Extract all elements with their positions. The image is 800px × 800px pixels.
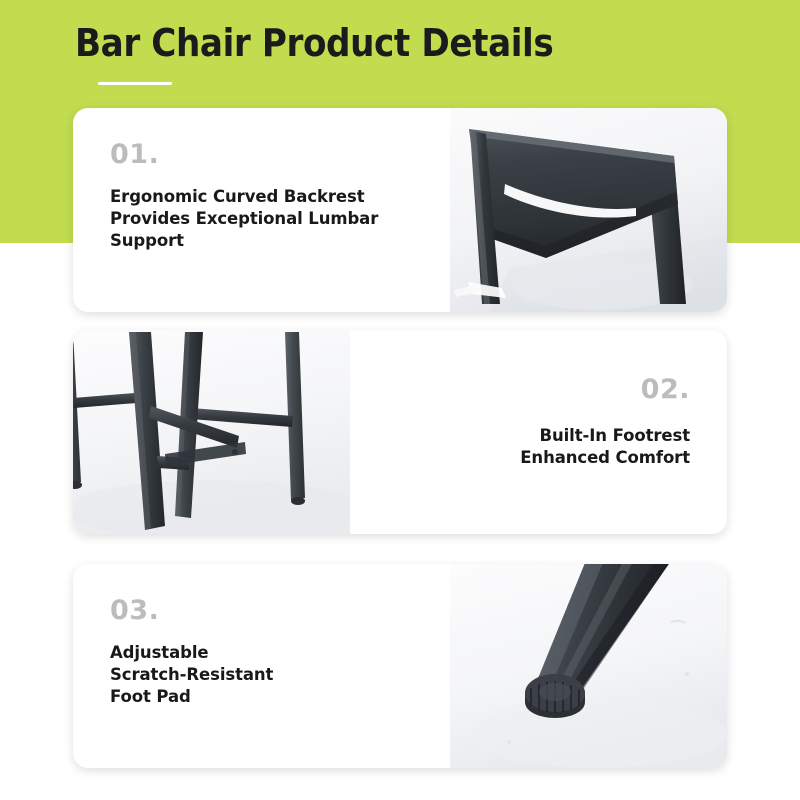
feature-card-1-title-line-2: Provides Exceptional Lumbar (110, 208, 450, 230)
chair-foot-pad-photo (450, 564, 727, 768)
feature-card-3-title-line-3: Foot Pad (110, 686, 450, 708)
chair-footrest-legs-photo (73, 330, 350, 534)
feature-card-1-text: 01. Ergonomic Curved Backrest Provides E… (73, 108, 450, 312)
feature-card-3-title-line-1: Adjustable (110, 642, 450, 664)
feature-card-3-text: 03. Adjustable Scratch-Resistant Foot Pa… (73, 564, 450, 768)
feature-card-2-text: 02. Built-In Footrest Enhanced Comfort (350, 330, 727, 534)
feature-card-3-number: 03. (110, 597, 450, 624)
chair-backrest-photo (450, 108, 727, 312)
feature-card-3-title-line-2: Scratch-Resistant (110, 664, 450, 686)
feature-card-3-title: Adjustable Scratch-Resistant Foot Pad (110, 642, 450, 707)
feature-card-1-title-line-1: Ergonomic Curved Backrest (110, 186, 450, 208)
feature-card-1-number: 01. (110, 141, 450, 168)
feature-card-2-title-line-1: Built-In Footrest (350, 425, 690, 447)
page-title: Bar Chair Product Details (75, 21, 553, 65)
feature-card-2-title-line-2: Enhanced Comfort (350, 447, 690, 469)
feature-card-2-number: 02. (350, 376, 690, 403)
infographic-page: Bar Chair Product Details 01. Ergonomic … (0, 0, 800, 800)
title-underline-accent (98, 82, 172, 85)
feature-card-1-title: Ergonomic Curved Backrest Provides Excep… (110, 186, 450, 251)
feature-card-2-title: Built-In Footrest Enhanced Comfort (350, 425, 690, 469)
feature-card-3[interactable]: 03. Adjustable Scratch-Resistant Foot Pa… (73, 564, 727, 768)
feature-card-2[interactable]: 02. Built-In Footrest Enhanced Comfort (73, 330, 727, 534)
feature-card-1-title-line-3: Support (110, 230, 450, 252)
feature-card-1[interactable]: 01. Ergonomic Curved Backrest Provides E… (73, 108, 727, 312)
